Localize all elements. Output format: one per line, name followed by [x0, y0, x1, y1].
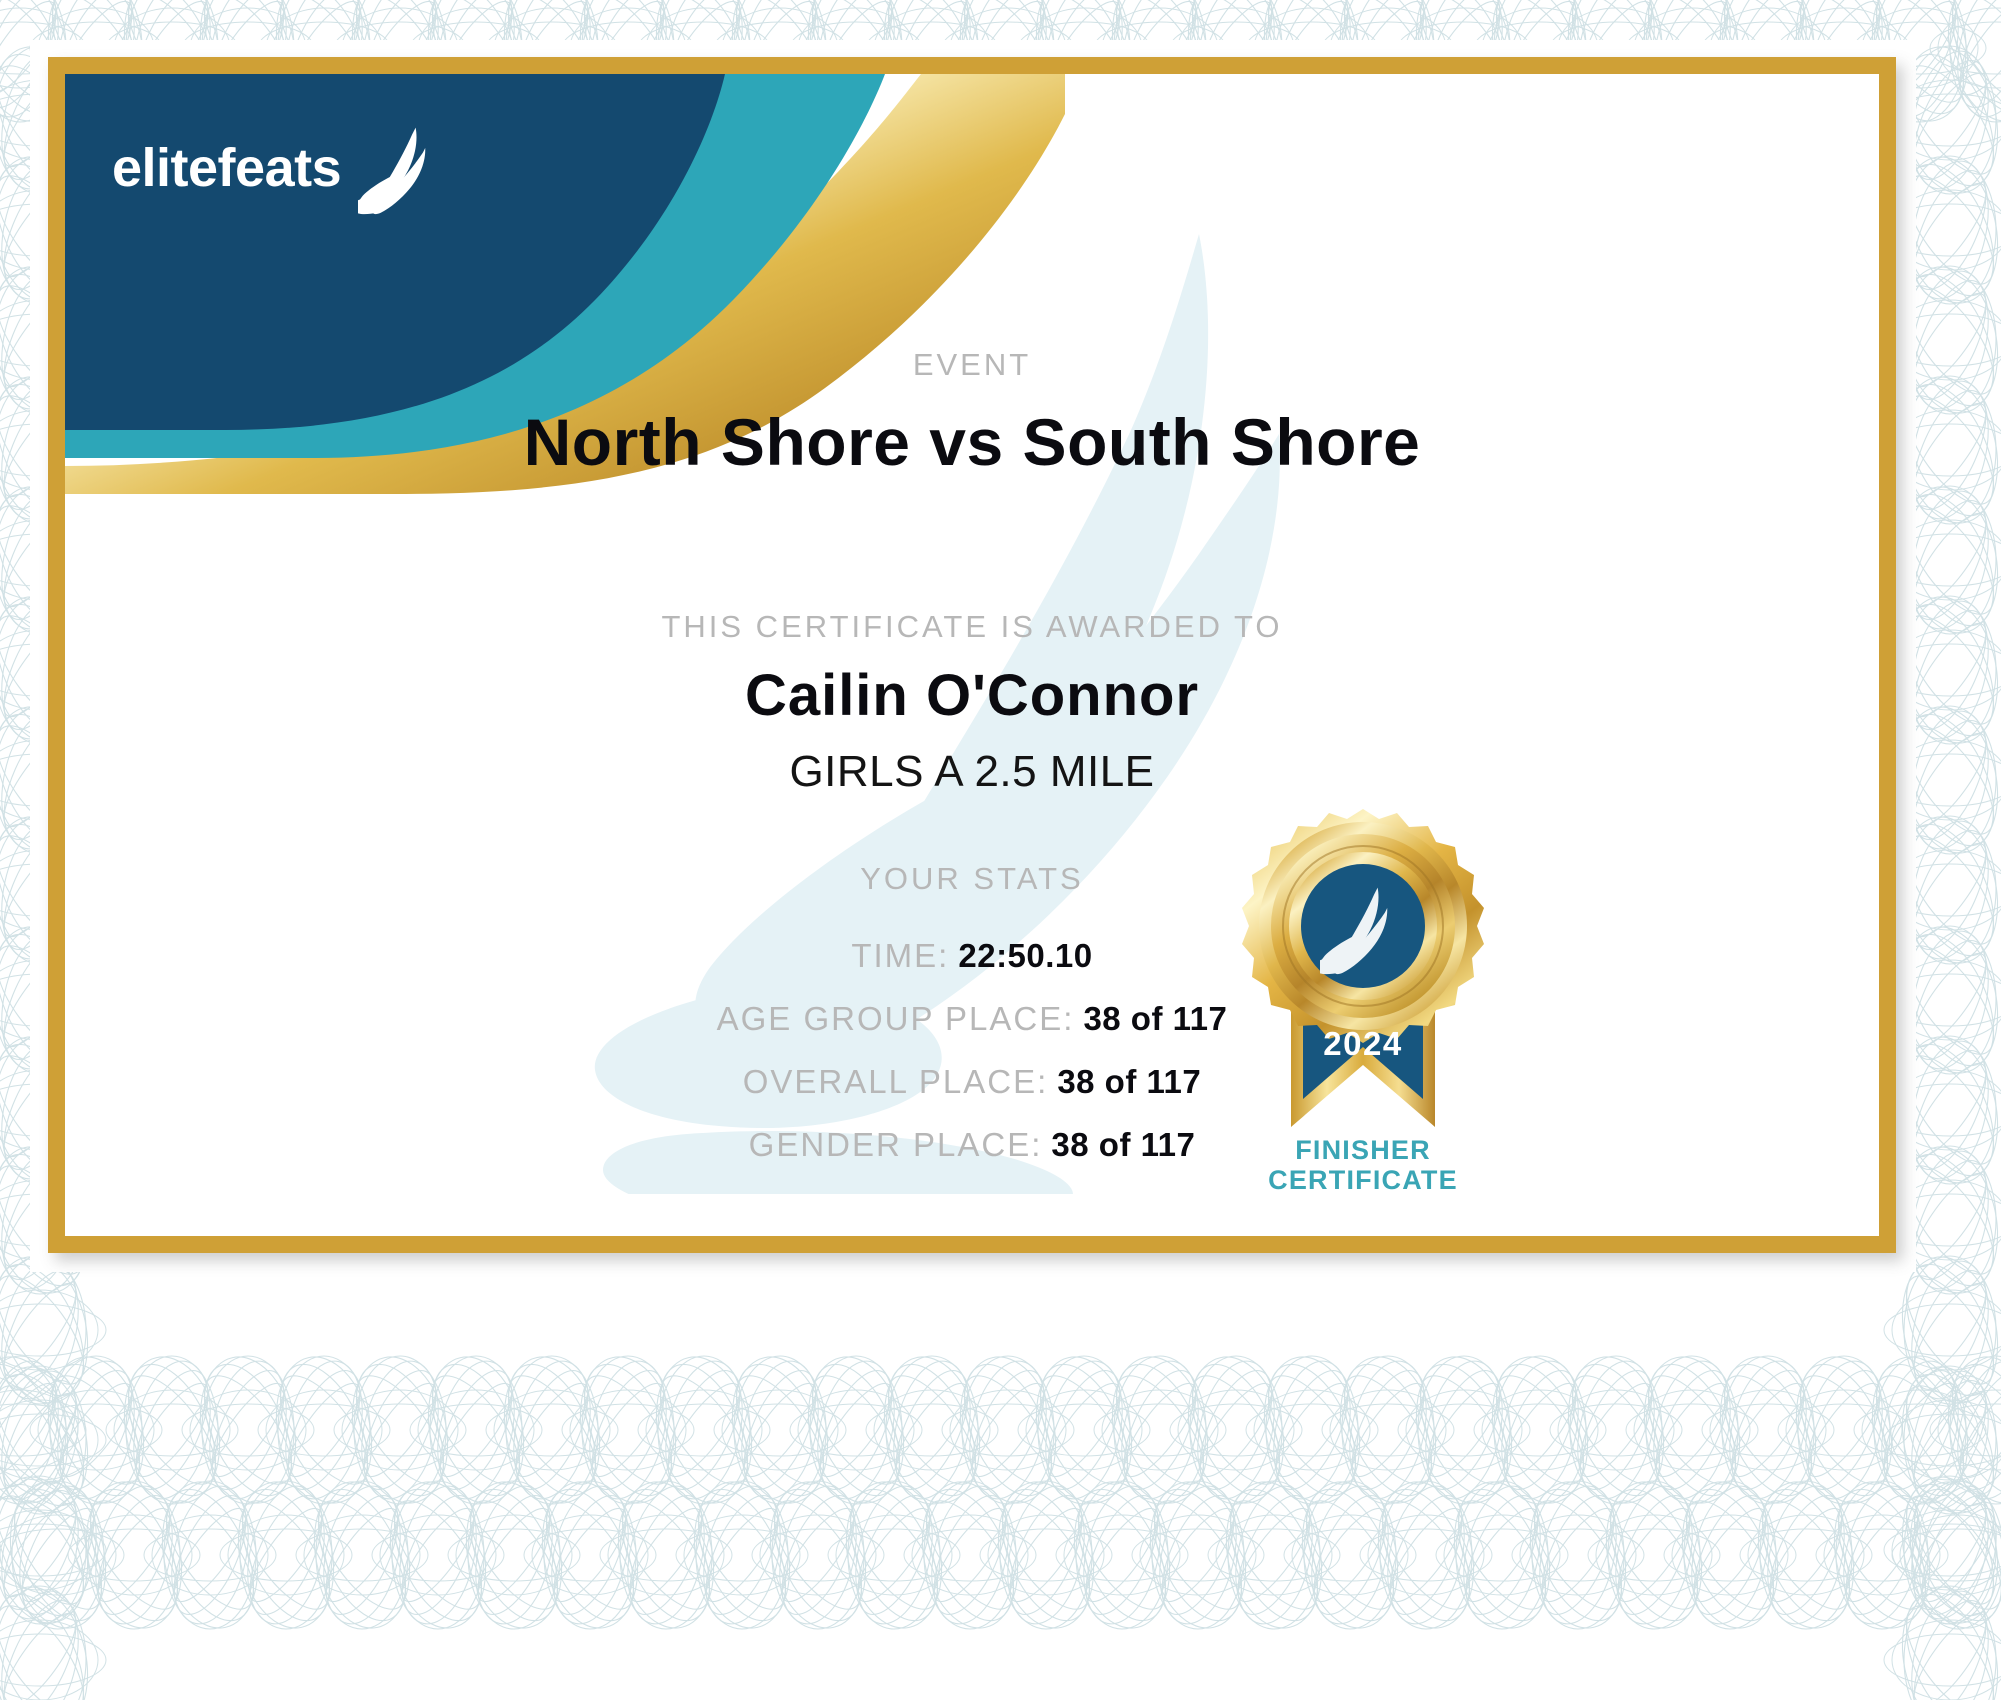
stat-row-gender-place: GENDER PLACE:38 of 117	[65, 1128, 1879, 1161]
stat-key: GENDER PLACE:	[749, 1126, 1043, 1163]
certificate-content: EVENT North Shore vs South Shore THIS CE…	[65, 74, 1879, 1236]
medal-graphic: 2024	[1213, 797, 1513, 1137]
stat-key: TIME:	[851, 937, 949, 974]
stat-key: OVERALL PLACE:	[743, 1063, 1049, 1100]
badge-caption-line2: CERTIFICATE	[1213, 1165, 1513, 1195]
recipient-name: Cailin O'Connor	[65, 662, 1879, 729]
event-label: EVENT	[65, 347, 1879, 383]
division-name: GIRLS A 2.5 MILE	[65, 747, 1879, 797]
certificate-inner: elitefeats EVENT North Shore vs South Sh…	[65, 74, 1879, 1236]
stat-row-age-group-place: AGE GROUP PLACE:38 of 117	[65, 1002, 1879, 1035]
stat-value: 38 of 117	[1051, 1126, 1195, 1163]
certificate-page: elitefeats EVENT North Shore vs South Sh…	[0, 0, 2001, 1700]
stat-row-time: TIME:22:50.10	[65, 939, 1879, 972]
stat-key: AGE GROUP PLACE:	[717, 1000, 1075, 1037]
medal-year: 2024	[1323, 1025, 1402, 1062]
stat-value: 22:50.10	[958, 937, 1092, 974]
stat-row-overall-place: OVERALL PLACE:38 of 117	[65, 1065, 1879, 1098]
stats-section-label: YOUR STATS	[65, 861, 1879, 897]
stat-value: 38 of 117	[1083, 1000, 1227, 1037]
badge-caption-line1: FINISHER	[1295, 1135, 1431, 1165]
stats-list: TIME:22:50.10 AGE GROUP PLACE:38 of 117 …	[65, 939, 1879, 1191]
event-title: North Shore vs South Shore	[65, 404, 1879, 480]
finisher-medal-badge: 2024 FINISHER CERTIFICATE	[1213, 797, 1513, 1217]
stat-value: 38 of 117	[1057, 1063, 1201, 1100]
awarded-to-label: THIS CERTIFICATE IS AWARDED TO	[65, 609, 1879, 645]
certificate-card: elitefeats EVENT North Shore vs South Sh…	[48, 57, 1896, 1253]
badge-caption: FINISHER CERTIFICATE	[1213, 1135, 1513, 1195]
